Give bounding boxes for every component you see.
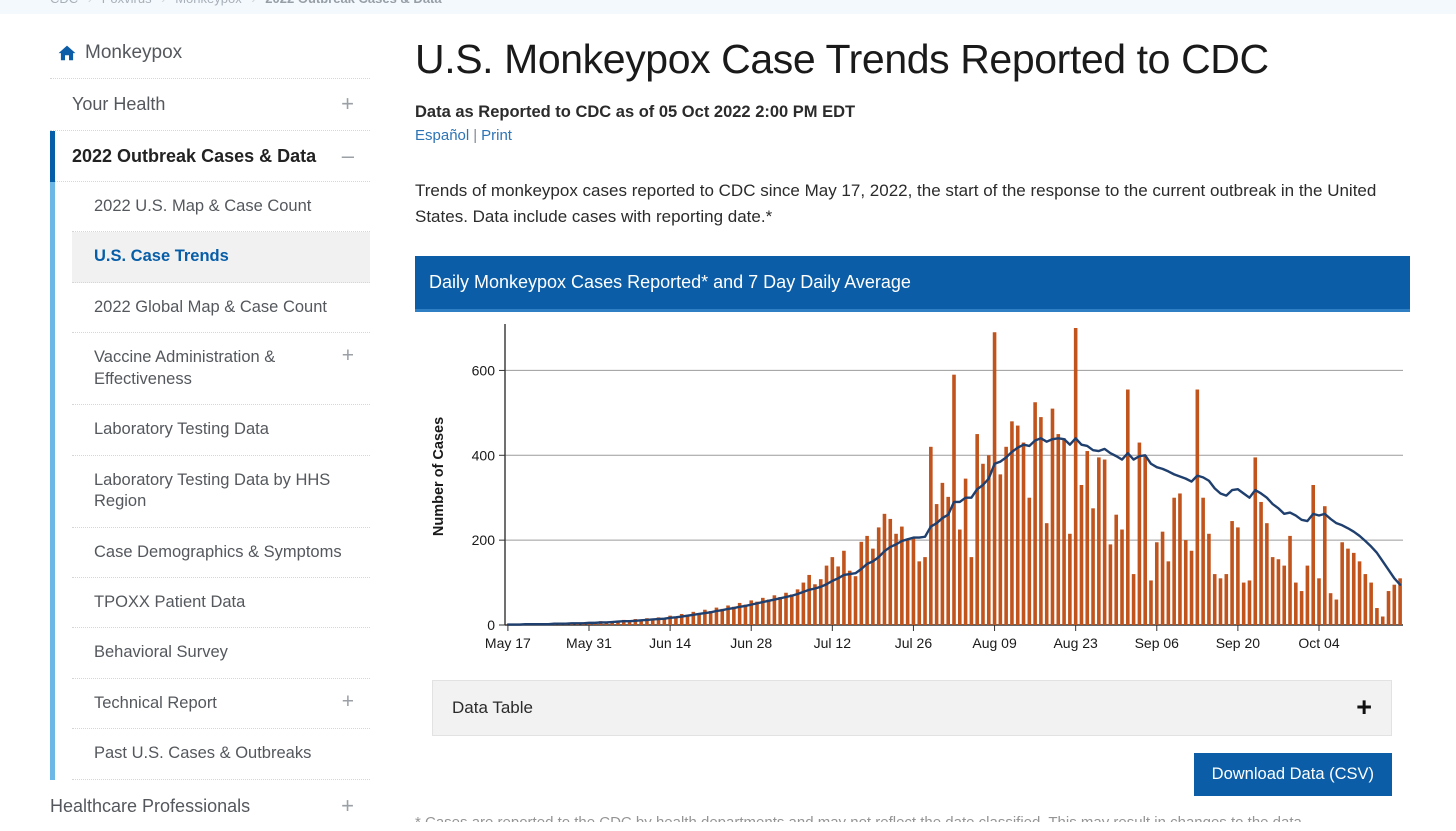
breadcrumb-item-cdc[interactable]: CDC	[50, 0, 78, 6]
page-title: U.S. Monkeypox Case Trends Reported to C…	[415, 36, 1410, 83]
breadcrumb-separator: ›	[88, 0, 92, 6]
breadcrumb-strip: CDC › Poxvirus › Monkeypox › 2022 Outbre…	[0, 0, 1456, 14]
plus-icon[interactable]: +	[341, 797, 354, 815]
sidebar-item-2022-global-map-case-count[interactable]: 2022 Global Map & Case Count	[72, 283, 370, 333]
sidebar-subitem-label: Case Demographics & Symptoms	[94, 542, 342, 563]
sidebar-subitem-label: TPOXX Patient Data	[94, 592, 245, 613]
chart-title-bar: Daily Monkeypox Cases Reported* and 7 Da…	[415, 256, 1410, 312]
sidebar-item-2022-outbreak-label: 2022 Outbreak Cases & Data	[72, 145, 316, 168]
svg-text:Sep 20: Sep 20	[1216, 635, 1261, 651]
sidebar-item-behavioral-survey[interactable]: Behavioral Survey	[72, 628, 370, 678]
sidebar-subitem-label: Technical Report	[94, 693, 217, 714]
svg-text:Number of Cases: Number of Cases	[431, 417, 447, 536]
sidebar-subitem-label: U.S. Case Trends	[94, 246, 229, 267]
sidebar-home-monkeypox[interactable]: Monkeypox	[50, 36, 370, 79]
breadcrumb-separator: ›	[161, 0, 165, 6]
sidebar-subitem-label: Vaccine Administration & Effectiveness	[94, 347, 342, 390]
svg-text:400: 400	[472, 447, 496, 463]
svg-text:Jul 12: Jul 12	[814, 635, 852, 651]
download-data-csv-button[interactable]: Download Data (CSV)	[1194, 753, 1392, 796]
breadcrumb-item-monkeypox[interactable]: Monkeypox	[175, 0, 241, 6]
sidebar-home-label: Monkeypox	[85, 42, 182, 64]
sidebar-subitem-label: 2022 Global Map & Case Count	[94, 297, 327, 318]
sidebar-item-healthcare-professionals-label: Healthcare Professionals	[50, 796, 250, 817]
svg-text:Oct 04: Oct 04	[1298, 635, 1339, 651]
sidebar-subitem-label: Laboratory Testing Data by HHS Region	[94, 470, 354, 513]
data-as-of-text: Data as Reported to CDC as of 05 Oct 202…	[415, 103, 1410, 122]
sidebar-item-tpoxx-patient-data[interactable]: TPOXX Patient Data	[72, 578, 370, 628]
svg-text:Jun 28: Jun 28	[730, 635, 772, 651]
sidebar-item-laboratory-testing-data[interactable]: Laboratory Testing Data	[72, 405, 370, 455]
sidebar: Monkeypox Your Health + 2022 Outbreak Ca…	[50, 36, 370, 831]
sidebar-item-us-case-trends[interactable]: U.S. Case Trends	[72, 232, 370, 282]
sidebar-item-your-health[interactable]: Your Health +	[50, 79, 370, 131]
main-content: U.S. Monkeypox Case Trends Reported to C…	[415, 36, 1410, 822]
page-body: Monkeypox Your Health + 2022 Outbreak Ca…	[0, 14, 1456, 818]
breadcrumb-item-poxvirus[interactable]: Poxvirus	[102, 0, 152, 6]
data-table-label: Data Table	[452, 698, 533, 718]
utility-links: Español|Print	[415, 127, 1410, 144]
svg-text:May 31: May 31	[566, 635, 612, 651]
minus-icon[interactable]: –	[342, 145, 354, 165]
sidebar-item-case-demographics-symptoms[interactable]: Case Demographics & Symptoms	[72, 528, 370, 578]
sidebar-subitem-label: Past U.S. Cases & Outbreaks	[94, 743, 311, 764]
intro-paragraph: Trends of monkeypox cases reported to CD…	[415, 178, 1390, 231]
sidebar-item-2022-us-map-case-count[interactable]: 2022 U.S. Map & Case Count	[72, 182, 370, 232]
sidebar-item-laboratory-testing-data-by-hhs-region[interactable]: Laboratory Testing Data by HHS Region	[72, 456, 370, 528]
sidebar-subitem-label: 2022 U.S. Map & Case Count	[94, 196, 311, 217]
download-row: Download Data (CSV)	[415, 753, 1392, 796]
svg-text:May 17: May 17	[485, 635, 531, 651]
sidebar-item-technical-report[interactable]: Technical Report +	[72, 679, 370, 729]
svg-text:Aug 09: Aug 09	[972, 635, 1017, 651]
plus-icon[interactable]: +	[342, 347, 354, 365]
breadcrumb: CDC › Poxvirus › Monkeypox › 2022 Outbre…	[50, 0, 442, 6]
svg-text:Aug 23: Aug 23	[1053, 635, 1098, 651]
svg-text:Sep 06: Sep 06	[1135, 635, 1180, 651]
footnote-text: * Cases are reported to the CDC by healt…	[415, 812, 1410, 822]
sidebar-subitem-label: Behavioral Survey	[94, 642, 228, 663]
svg-text:200: 200	[472, 532, 496, 548]
svg-text:Jul 26: Jul 26	[895, 635, 933, 651]
sidebar-subnav: 2022 U.S. Map & Case Count U.S. Case Tre…	[50, 182, 370, 780]
sidebar-item-your-health-label: Your Health	[72, 93, 165, 116]
espanol-link[interactable]: Español	[415, 127, 469, 144]
sidebar-item-2022-outbreak-cases-and-data[interactable]: 2022 Outbreak Cases & Data –	[50, 131, 370, 183]
plus-icon[interactable]: +	[342, 693, 354, 711]
link-separator: |	[473, 127, 477, 144]
svg-text:600: 600	[472, 362, 496, 378]
svg-text:Jun 14: Jun 14	[649, 635, 691, 651]
sidebar-item-past-us-cases-outbreaks[interactable]: Past U.S. Cases & Outbreaks	[72, 729, 370, 779]
chart-container: 0200400600Number of CasesMay 17May 31Jun…	[415, 320, 1410, 665]
sidebar-item-healthcare-professionals[interactable]: Healthcare Professionals +	[50, 780, 370, 831]
svg-text:0: 0	[487, 617, 495, 633]
data-table-accordion[interactable]: Data Table +	[432, 680, 1392, 736]
case-trends-chart: 0200400600Number of CasesMay 17May 31Jun…	[415, 320, 1410, 665]
print-link[interactable]: Print	[481, 127, 512, 144]
breadcrumb-separator: ›	[251, 0, 255, 6]
sidebar-item-vaccine-administration-effectiveness[interactable]: Vaccine Administration & Effectiveness +	[72, 333, 370, 405]
breadcrumb-item-current: 2022 Outbreak Cases & Data	[265, 0, 441, 6]
plus-icon[interactable]: +	[341, 93, 354, 113]
home-icon	[58, 45, 76, 61]
plus-icon[interactable]: +	[1356, 698, 1372, 717]
sidebar-subitem-label: Laboratory Testing Data	[94, 419, 269, 440]
